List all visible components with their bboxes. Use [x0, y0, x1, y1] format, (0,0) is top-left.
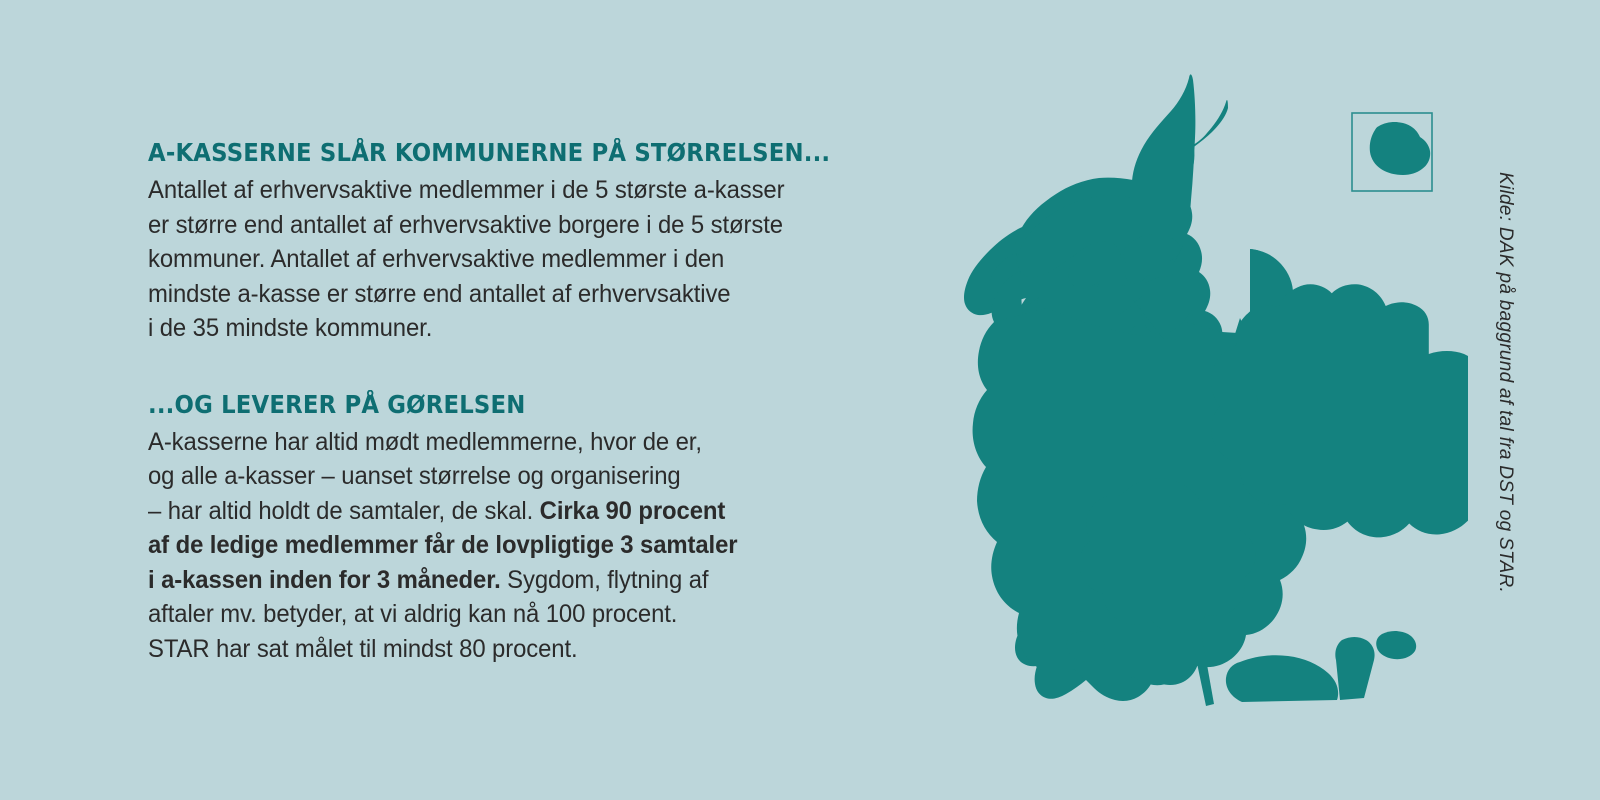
- source-credit: Kilde: DAK på baggrund af tal fra DST og…: [1494, 172, 1516, 593]
- falster-island: [1335, 637, 1374, 700]
- body-text-emphasis: i a-kassen inden for 3 måneder.: [148, 566, 501, 594]
- body-line: mindste a-kasse er større end antallet a…: [148, 277, 874, 312]
- body-line: STAR har sat målet til mindst 80 procent…: [148, 632, 874, 667]
- body-line: er større end antallet af erhvervsaktive…: [148, 208, 874, 243]
- body-line: – har altid holdt de samtaler, de skal. …: [148, 494, 874, 529]
- map-of-denmark: [890, 70, 1490, 710]
- body-line: i de 35 mindste kommuner.: [148, 311, 874, 346]
- body-line: af de ledige medlemmer får de lovpligtig…: [148, 528, 874, 563]
- section-block-delivery: ...OG LEVERER PÅ GØRELSEN A-kasserne har…: [148, 390, 908, 667]
- body-line: kommuner. Antallet af erhvervsaktive med…: [148, 242, 874, 277]
- section-body-delivery: A-kasserne har altid mødt medlemmerne, h…: [148, 425, 874, 667]
- body-line: i a-kassen inden for 3 måneder. Sygdom, …: [148, 563, 874, 598]
- section-body-size: Antallet af erhvervsaktive medlemmer i d…: [148, 173, 874, 346]
- body-line: og alle a-kasser – uanset størrelse og o…: [148, 459, 874, 494]
- body-text-emphasis: af de ledige medlemmer får de lovpligtig…: [148, 531, 737, 559]
- body-text-run: – har altid holdt de samtaler, de skal.: [148, 497, 540, 525]
- body-text-emphasis: Cirka 90 procent: [540, 497, 726, 525]
- section-heading-size: A-KASSERNE SLÅR KOMMUNERNE PÅ STØRRELSEN…: [148, 138, 855, 168]
- body-text-run: Sygdom, flytning af: [501, 566, 709, 594]
- section-block-size: A-KASSERNE SLÅR KOMMUNERNE PÅ STØRRELSEN…: [148, 138, 908, 346]
- body-line: Antallet af erhvervsaktive medlemmer i d…: [148, 173, 874, 208]
- text-column: A-KASSERNE SLÅR KOMMUNERNE PÅ STØRRELSEN…: [148, 138, 908, 666]
- bornholm-island: [1370, 122, 1430, 175]
- bornholm-inset: [1352, 113, 1432, 191]
- lolland-island: [1226, 655, 1338, 702]
- infographic-canvas: A-KASSERNE SLÅR KOMMUNERNE PÅ STØRRELSEN…: [0, 0, 1600, 800]
- body-line: aftaler mv. betyder, at vi aldrig kan nå…: [148, 597, 874, 632]
- moen-island: [1376, 631, 1416, 659]
- section-heading-delivery: ...OG LEVERER PÅ GØRELSEN: [148, 390, 855, 420]
- body-line: A-kasserne har altid mødt medlemmerne, h…: [148, 425, 874, 460]
